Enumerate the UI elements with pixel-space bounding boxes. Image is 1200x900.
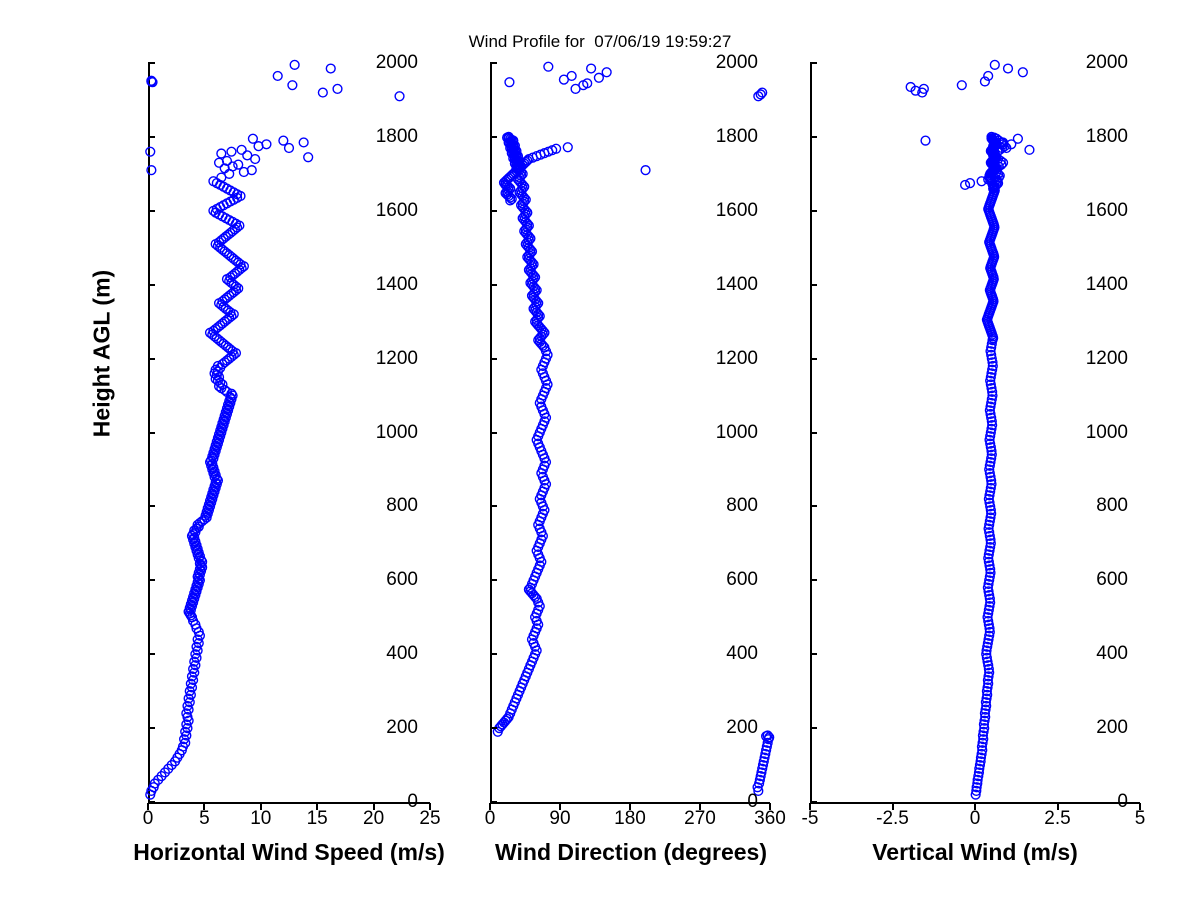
y-axis-tick — [810, 432, 817, 434]
y-axis-tick-label: 800 — [726, 495, 758, 517]
x-axis-tick-label: 25 — [419, 808, 440, 830]
data-point-marker — [1004, 64, 1013, 73]
y-axis-tick-label: 200 — [386, 717, 418, 739]
y-axis-tick — [148, 653, 155, 655]
y-axis-tick-label: 1800 — [1086, 126, 1128, 148]
y-axis-tick — [490, 801, 497, 803]
x-axis-title-horizontal-speed: Horizontal Wind Speed (m/s) — [130, 839, 448, 866]
x-axis-tick-label: 270 — [684, 808, 716, 830]
data-point-marker — [304, 153, 313, 162]
data-point-marker — [571, 84, 580, 93]
panel-vertical-wind: 0200400600800100012001400160018002000 Ve… — [810, 63, 1140, 802]
y-axis-tick — [490, 62, 497, 64]
data-point-marker — [243, 151, 252, 160]
wind-profile-figure: Wind Profile for 07/06/19 19:59:27 Heigh… — [0, 0, 1200, 900]
y-axis-tick — [810, 136, 817, 138]
y-axis-tick-label: 800 — [386, 495, 418, 517]
y-axis-tick — [148, 358, 155, 360]
panel-horizontal-speed: 0200400600800100012001400160018002000 Ho… — [148, 63, 430, 802]
x-axis-tick-label: 180 — [614, 808, 646, 830]
x-axis-tick-label: 90 — [549, 808, 570, 830]
y-axis-tick-label: 1000 — [1086, 422, 1128, 444]
data-point-marker — [563, 143, 572, 152]
data-point-marker — [146, 147, 155, 156]
data-point-marker — [544, 62, 553, 71]
y-axis-tick-label: 1200 — [376, 348, 418, 370]
x-axis-tick-label: 20 — [363, 808, 384, 830]
y-axis-tick-label: 600 — [1096, 569, 1128, 591]
y-axis-tick — [148, 432, 155, 434]
y-axis-tick — [810, 62, 817, 64]
data-point-marker — [262, 140, 271, 149]
y-axis-tick — [490, 579, 497, 581]
y-axis-tick-label: 1800 — [376, 126, 418, 148]
data-point-marker — [1018, 68, 1027, 77]
x-axis-tick-label: 15 — [307, 808, 328, 830]
y-axis-tick — [810, 505, 817, 507]
data-point-marker — [966, 179, 975, 188]
y-axis-tick — [148, 579, 155, 581]
x-axis-tick-label: 0 — [485, 808, 496, 830]
x-axis-tick-label: 2.5 — [1044, 808, 1070, 830]
y-axis-tick-label: 2000 — [1086, 52, 1128, 74]
data-point-marker — [961, 181, 970, 190]
data-point-marker — [505, 78, 514, 87]
data-point-marker — [228, 162, 237, 171]
y-axis-tick-label: 1800 — [716, 126, 758, 148]
data-point-marker — [318, 88, 327, 97]
y-axis-tick-label: 200 — [1096, 717, 1128, 739]
y-axis-tick-label: 0 — [1117, 791, 1128, 813]
page-title: Wind Profile for 07/06/19 19:59:27 — [0, 32, 1200, 52]
y-axis-tick-label: 1600 — [716, 200, 758, 222]
y-axis-tick-label: 1000 — [716, 422, 758, 444]
data-point-marker — [559, 75, 568, 84]
x-axis-tick-label: 0 — [143, 808, 154, 830]
y-axis-tick — [490, 358, 497, 360]
data-point-marker — [957, 81, 966, 90]
data-point-marker — [299, 138, 308, 147]
data-point-marker — [587, 64, 596, 73]
y-axis-tick-label: 1200 — [1086, 348, 1128, 370]
x-axis-tick-label: -2.5 — [876, 808, 909, 830]
data-point-marker — [326, 64, 335, 73]
y-axis-tick-label: 1200 — [716, 348, 758, 370]
data-point-marker — [990, 60, 999, 69]
x-axis-tick-label: -5 — [802, 808, 819, 830]
data-point-marker — [602, 68, 611, 77]
y-axis-tick-label: 200 — [726, 717, 758, 739]
data-point-marker — [249, 134, 258, 143]
data-point-marker — [247, 166, 256, 175]
panel-wind-direction: 0200400600800100012001400160018002000 Wi… — [490, 63, 770, 802]
y-axis-tick — [148, 62, 155, 64]
y-axis-tick — [490, 505, 497, 507]
y-axis-tick — [490, 432, 497, 434]
y-axis-tick-label: 2000 — [376, 52, 418, 74]
y-axis-tick-label: 400 — [1096, 643, 1128, 665]
x-axis-tick-label: 360 — [754, 808, 786, 830]
data-point-marker — [273, 72, 282, 81]
data-point-marker — [1025, 145, 1034, 154]
y-axis-tick — [490, 653, 497, 655]
x-axis-line — [148, 802, 430, 804]
x-axis-tick-label: 10 — [250, 808, 271, 830]
y-axis-tick-label: 1600 — [1086, 200, 1128, 222]
data-point-marker — [921, 136, 930, 145]
data-point-marker — [288, 81, 297, 90]
x-axis-tick-label: 0 — [970, 808, 981, 830]
y-axis-tick-label: 1000 — [376, 422, 418, 444]
data-point-marker — [641, 166, 650, 175]
y-axis-tick — [148, 505, 155, 507]
data-point-marker — [333, 84, 342, 93]
x-axis-tick-label: 5 — [199, 808, 210, 830]
data-point-marker — [234, 160, 243, 169]
y-axis-title: Height AGL (m) — [89, 244, 116, 464]
data-point-marker — [237, 145, 246, 154]
y-axis-tick-label: 600 — [726, 569, 758, 591]
y-axis-tick-label: 0 — [407, 791, 418, 813]
y-axis-tick — [810, 358, 817, 360]
y-axis-tick — [148, 727, 155, 729]
y-axis-tick — [490, 284, 497, 286]
y-axis-tick-label: 400 — [726, 643, 758, 665]
data-point-marker — [217, 149, 226, 158]
y-axis-tick — [148, 801, 155, 803]
y-axis-tick — [148, 136, 155, 138]
data-point-marker — [1014, 134, 1023, 143]
data-point-marker — [227, 147, 236, 156]
y-axis-tick-label: 400 — [386, 643, 418, 665]
y-axis-tick — [810, 653, 817, 655]
plot-area-vertical-wind: 0200400600800100012001400160018002000 — [810, 63, 1140, 802]
y-axis-tick — [490, 210, 497, 212]
plot-area-horizontal-speed: 0200400600800100012001400160018002000 — [148, 63, 430, 802]
y-axis-tick-label: 2000 — [716, 52, 758, 74]
data-point-marker — [279, 136, 288, 145]
y-axis-tick-label: 1600 — [376, 200, 418, 222]
y-axis-tick — [148, 284, 155, 286]
y-axis-tick — [810, 210, 817, 212]
y-axis-tick — [810, 284, 817, 286]
y-axis-tick-label: 1400 — [1086, 274, 1128, 296]
data-point-marker — [290, 60, 299, 69]
y-axis-tick-label: 600 — [386, 569, 418, 591]
y-axis-tick — [490, 727, 497, 729]
x-axis-tick-label: 5 — [1135, 808, 1146, 830]
y-axis-tick-label: 1400 — [376, 274, 418, 296]
y-axis-tick — [810, 801, 817, 803]
y-axis-tick — [810, 579, 817, 581]
data-point-marker — [147, 166, 156, 175]
y-axis-tick — [490, 136, 497, 138]
data-point-marker — [395, 92, 404, 101]
y-axis-tick-label: 800 — [1096, 495, 1128, 517]
y-axis-tick — [148, 210, 155, 212]
y-axis-tick-label: 1400 — [716, 274, 758, 296]
x-axis-title-vertical-wind: Vertical Wind (m/s) — [810, 839, 1140, 866]
x-axis-title-wind-direction: Wind Direction (degrees) — [466, 839, 796, 866]
data-point-marker — [594, 73, 603, 82]
plot-area-wind-direction: 0200400600800100012001400160018002000 — [490, 63, 770, 802]
y-axis-tick — [810, 727, 817, 729]
